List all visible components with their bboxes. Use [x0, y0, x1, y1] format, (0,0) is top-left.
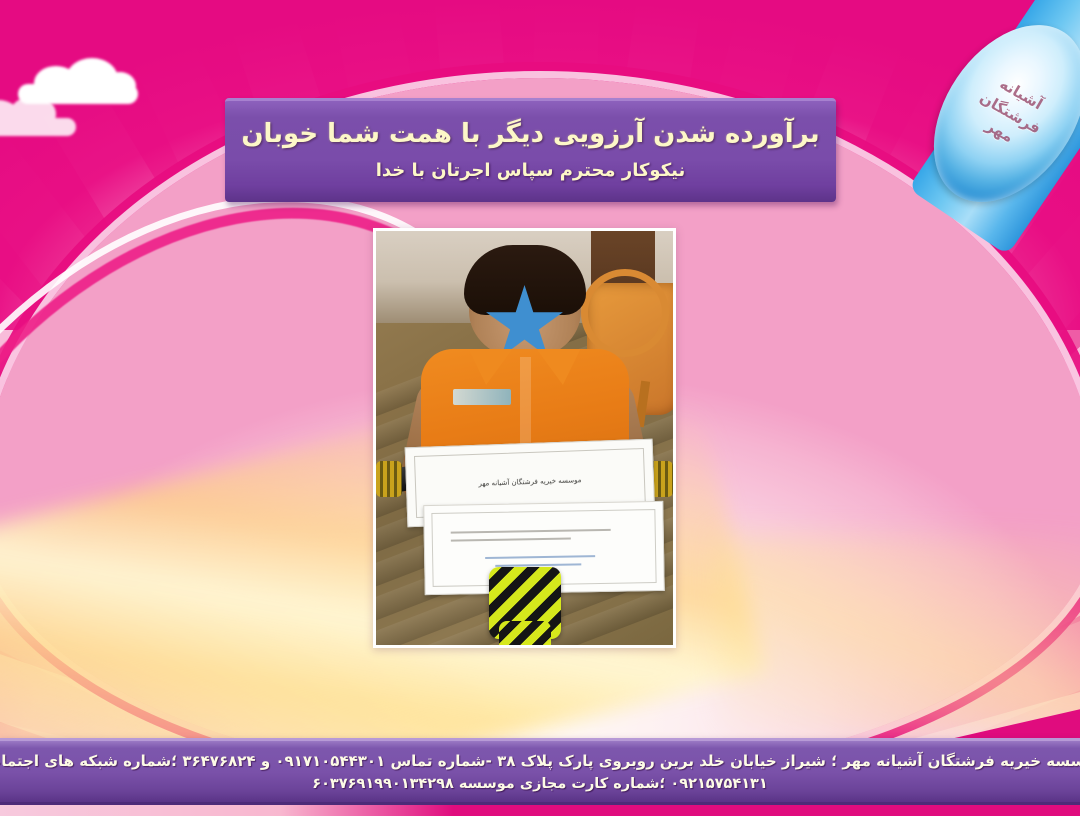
page-subtitle: نیکوکار محترم سپاس اجرتان با خدا — [376, 160, 686, 181]
photograph: موسسه خیریه فرشتگان آشیانه مهر — [376, 231, 673, 645]
footer-card-line: ۰۹۲۱۵۷۵۴۱۳۱ ؛شماره کارت مجازی موسسه ۶۰۳۷… — [312, 776, 768, 792]
photo-frame: موسسه خیریه فرشتگان آشیانه مهر — [373, 228, 676, 648]
footer-address-line: موسسه خیریه فرشتگان آشیانه مهر ؛ شیراز خ… — [0, 752, 1080, 770]
footer-contact-banner: موسسه خیریه فرشتگان آشیانه مهر ؛ شیراز خ… — [0, 738, 1080, 805]
footer-bottom-strip — [0, 805, 1080, 816]
chair-backrest — [581, 269, 669, 357]
bicycle-grip-left — [376, 461, 402, 497]
shirt-logo-patch — [453, 389, 511, 405]
title-banner: برآورده شدن آرزویی دیگر با همت شما خوبان… — [225, 98, 836, 202]
page-title: برآورده شدن آرزویی دیگر با همت شما خوبان — [241, 118, 819, 151]
golden-glow-right — [720, 536, 1080, 736]
bicycle-fork — [499, 621, 551, 645]
cloud-icon — [0, 96, 76, 136]
poster-canvas: آشیانه فرشتگان مهر برآورده شدن آرزویی دی… — [0, 0, 1080, 816]
